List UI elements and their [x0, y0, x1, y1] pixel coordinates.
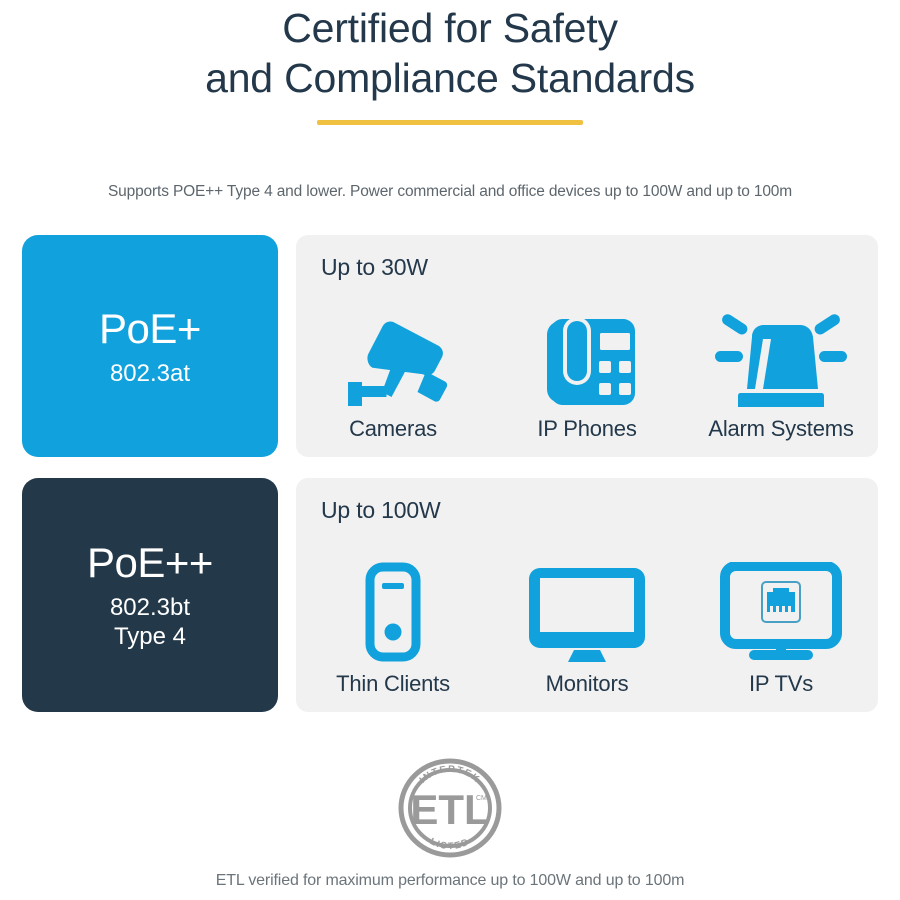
desk-phone-icon — [539, 295, 635, 407]
poe-plus-device-list: Cameras — [296, 293, 878, 443]
etl-intertek-listed-logo: ETL INTERTEK LISTED CM — [0, 752, 900, 864]
poe-plus-plus-row: PoE++ 802.3bt Type 4 Up to 100W Thin Cli… — [22, 478, 878, 712]
poe-plus-plus-badge: PoE++ 802.3bt Type 4 — [22, 478, 278, 712]
ip-tv-ethernet-icon — [720, 550, 842, 662]
poe-plus-badge-standard: 802.3at — [110, 359, 190, 388]
poe-plus-power-label: Up to 30W — [321, 253, 428, 281]
poe-plus-plus-device-panel: Up to 100W Thin Clients — [296, 478, 878, 712]
etl-bottom-text: LISTED — [428, 836, 472, 852]
etl-cm-mark: CM — [476, 795, 487, 802]
device-label-alarm-systems: Alarm Systems — [708, 415, 853, 443]
device-item-monitors: Monitors — [495, 550, 680, 698]
etl-main-text: ETL — [410, 786, 489, 833]
poe-plus-row: PoE+ 802.3at Up to 30W — [22, 235, 878, 457]
poe-plus-badge: PoE+ 802.3at — [22, 235, 278, 457]
accent-underline — [317, 120, 583, 125]
poe-plus-plus-badge-title: PoE++ — [87, 539, 213, 587]
device-label-monitors: Monitors — [546, 670, 629, 698]
monitor-icon — [527, 550, 647, 662]
security-camera-icon — [338, 295, 448, 407]
page-subtitle: Supports POE++ Type 4 and lower. Power c… — [0, 182, 900, 202]
poe-plus-plus-power-label: Up to 100W — [321, 496, 440, 524]
device-item-thin-clients: Thin Clients — [301, 550, 486, 698]
poe-plus-plus-badge-type: Type 4 — [114, 622, 186, 651]
poe-plus-badge-title: PoE+ — [99, 305, 201, 353]
device-label-cameras: Cameras — [349, 415, 437, 443]
infographic-page: Certified for Safety and Compliance Stan… — [0, 0, 900, 900]
page-title-line-2: and Compliance Standards — [0, 52, 900, 102]
poe-plus-plus-device-list: Thin Clients Monitors — [296, 536, 878, 698]
page-header: Certified for Safety and Compliance Stan… — [0, 0, 900, 125]
device-label-ip-tvs: IP TVs — [749, 670, 813, 698]
device-item-ip-phones: IP Phones — [495, 295, 680, 443]
device-item-cameras: Cameras — [301, 295, 486, 443]
page-title-line-1: Certified for Safety — [0, 0, 900, 52]
alarm-siren-icon — [705, 295, 857, 407]
thin-client-tower-icon — [365, 550, 421, 662]
poe-plus-device-panel: Up to 30W — [296, 235, 878, 457]
device-label-thin-clients: Thin Clients — [336, 670, 450, 698]
poe-plus-plus-badge-standard: 802.3bt — [110, 593, 190, 622]
etl-verification-note: ETL verified for maximum performance up … — [0, 870, 900, 891]
device-label-ip-phones: IP Phones — [537, 415, 636, 443]
device-item-ip-tvs: IP TVs — [689, 550, 874, 698]
device-item-alarm-systems: Alarm Systems — [689, 295, 874, 443]
